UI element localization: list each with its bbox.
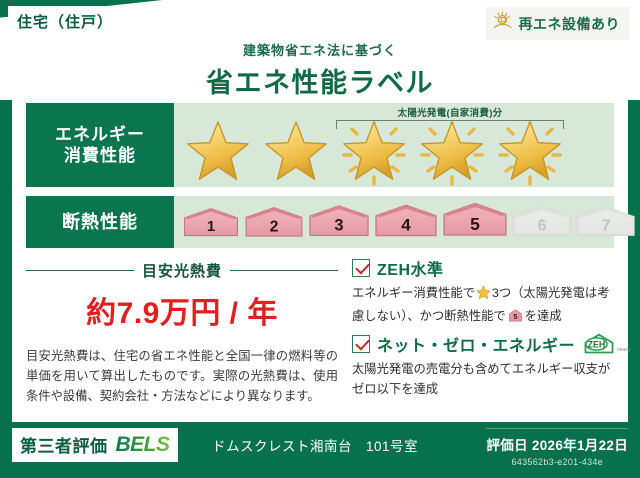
criterion-zeh-level-body: エネルギー消費性能で3つ（太陽光発電は考慮しない）、かつ断熱性能で5を達成 bbox=[352, 284, 618, 327]
svg-text:6: 6 bbox=[538, 218, 547, 235]
insulation-level-3: 3 bbox=[308, 205, 370, 243]
insulation-level-1: 1 bbox=[182, 208, 240, 243]
svg-text:2: 2 bbox=[270, 218, 279, 235]
evaluation-rule bbox=[486, 428, 628, 429]
house-shape-icon: 1 bbox=[182, 208, 240, 238]
house-shape-icon: 5 bbox=[442, 201, 508, 237]
insulation-performance-body: 1234567 bbox=[174, 196, 614, 248]
star-icon bbox=[265, 120, 327, 182]
star-1 bbox=[180, 118, 256, 184]
svg-text:4: 4 bbox=[401, 215, 411, 234]
criterion-net-zero-energy: ネット・ゼロ・エネルギー ZEH nearly 太陽光発電の売電分も含めてエネル… bbox=[352, 332, 618, 400]
energy-performance-row: エネルギー 消費性能 太陽光発電(自家消費)分 bbox=[26, 103, 614, 187]
bels-jp-text: 第三者評価 bbox=[20, 432, 108, 457]
energy-label-line2: 消費性能 bbox=[64, 145, 136, 166]
star-icon bbox=[421, 120, 483, 182]
star-4 bbox=[414, 118, 490, 184]
label-footer: 第三者評価 BELS ドムスクレスト湘南台 101号室 評価日 2026年1月2… bbox=[0, 424, 640, 478]
utility-cost-heading-text: 目安光熱費 bbox=[142, 260, 222, 281]
criterion-net-zero-head: ネット・ゼロ・エネルギー ZEH nearly bbox=[352, 332, 618, 356]
criterion-net-zero-title: ネット・ゼロ・エネルギー bbox=[377, 332, 575, 356]
svg-text:1: 1 bbox=[207, 219, 215, 236]
insulation-level-scale: 1234567 bbox=[182, 201, 636, 242]
star-2 bbox=[258, 118, 334, 184]
house-shape-icon: 4 bbox=[374, 203, 438, 238]
svg-text:ZEH: ZEH bbox=[588, 339, 606, 349]
energy-performance-label: エネルギー 消費性能 bbox=[26, 103, 174, 187]
criterion-zeh-body-post: を達成 bbox=[525, 309, 562, 323]
insulation-level-2: 2 bbox=[244, 206, 304, 243]
solar-sun-icon bbox=[492, 11, 514, 36]
star-icon bbox=[499, 120, 561, 182]
house-shape-icon: 6 bbox=[512, 206, 572, 238]
insulation-performance-row: 断熱性能 1234567 bbox=[26, 196, 614, 248]
criterion-zeh-level: ZEH水準 エネルギー消費性能で3つ（太陽光発電は考慮しない）、かつ断熱性能で5… bbox=[352, 256, 618, 327]
zeh-logo-subtext: nearly bbox=[617, 347, 631, 355]
energy-performance-label: 住宅（住戸） 再エネ設備あり 建築物省エネ法に基づく 省エネ性能ラベル エネルギ… bbox=[0, 0, 640, 478]
star-5 bbox=[492, 118, 568, 184]
energy-star-rating bbox=[180, 118, 568, 184]
criterion-zeh-level-head: ZEH水準 bbox=[352, 256, 618, 280]
svg-text:5: 5 bbox=[470, 214, 480, 234]
insulation-level-5: 5 bbox=[442, 201, 508, 242]
house-shape-icon: 7 bbox=[576, 206, 636, 238]
house-type-tag: 住宅（住戸） bbox=[8, 6, 122, 38]
insulation-chip-5-icon: 5 bbox=[508, 308, 523, 323]
svg-text:3: 3 bbox=[334, 217, 343, 235]
star-3 bbox=[336, 118, 412, 184]
insulation-performance-label: 断熱性能 bbox=[26, 196, 174, 248]
renewable-equipment-badge: 再エネ設備あり bbox=[486, 7, 631, 40]
heading-rule-left bbox=[26, 270, 134, 272]
utility-cost-value: 約7.9万円 / 年 bbox=[26, 288, 338, 332]
label-title: 建築物省エネ法に基づく 省エネ性能ラベル bbox=[0, 40, 640, 100]
star-icon bbox=[343, 120, 405, 182]
star-icon bbox=[187, 120, 249, 182]
heading-rule-right bbox=[230, 270, 338, 272]
building-name: ドムスクレスト湘南台 101号室 bbox=[212, 435, 418, 455]
evaluation-date: 評価日 2026年1月22日 bbox=[486, 434, 628, 454]
criterion-net-zero-body: 太陽光発電の売電分も含めてエネルギー収支がゼロ以下を達成 bbox=[352, 360, 618, 400]
criterion-zeh-level-title: ZEH水準 bbox=[377, 256, 444, 280]
svg-text:7: 7 bbox=[602, 218, 611, 235]
svg-text:5: 5 bbox=[513, 312, 517, 321]
label-details: 目安光熱費 約7.9万円 / 年 目安光熱費は、住宅の省エネ性能と全国一律の燃料… bbox=[12, 256, 628, 422]
utility-cost-section: 目安光熱費 約7.9万円 / 年 目安光熱費は、住宅の省エネ性能と全国一律の燃料… bbox=[26, 256, 338, 407]
label-card: エネルギー 消費性能 太陽光発電(自家消費)分 断熱性能 1234567 bbox=[12, 92, 628, 422]
small-star-icon bbox=[476, 289, 491, 303]
insulation-level-6: 6 bbox=[512, 206, 572, 243]
bels-certification-mark: 第三者評価 BELS bbox=[12, 428, 178, 462]
renewable-badge-label: 再エネ設備あり bbox=[519, 14, 621, 34]
title-main: 省エネ性能ラベル bbox=[0, 61, 640, 100]
bels-logo-text: BELS bbox=[116, 433, 170, 457]
evaluation-id: 643562b3-e201-434e bbox=[486, 457, 628, 467]
evaluation-info: 評価日 2026年1月22日 643562b3-e201-434e bbox=[486, 428, 628, 467]
checkmark-icon bbox=[352, 259, 370, 277]
insulation-level-7: 7 bbox=[576, 206, 636, 243]
house-shape-icon: 2 bbox=[244, 206, 304, 238]
title-subtitle: 建築物省エネ法に基づく bbox=[0, 40, 640, 59]
utility-cost-note: 目安光熱費は、住宅の省エネ性能と全国一律の燃料等の単価を用いて算出したものです。… bbox=[26, 347, 338, 407]
checkmark-icon bbox=[352, 335, 370, 353]
utility-cost-heading: 目安光熱費 bbox=[26, 260, 338, 281]
house-shape-icon: 3 bbox=[308, 205, 370, 238]
energy-label-line1: エネルギー bbox=[55, 124, 145, 145]
insulation-level-4: 4 bbox=[374, 203, 438, 243]
criterion-zeh-body-pre: エネルギー消費性能で bbox=[352, 286, 475, 300]
criteria-section: ZEH水準 エネルギー消費性能で3つ（太陽光発電は考慮しない）、かつ断熱性能で5… bbox=[352, 256, 618, 405]
zeh-house-logo-icon: ZEH nearly bbox=[582, 333, 631, 355]
energy-performance-body: 太陽光発電(自家消費)分 bbox=[174, 103, 614, 187]
